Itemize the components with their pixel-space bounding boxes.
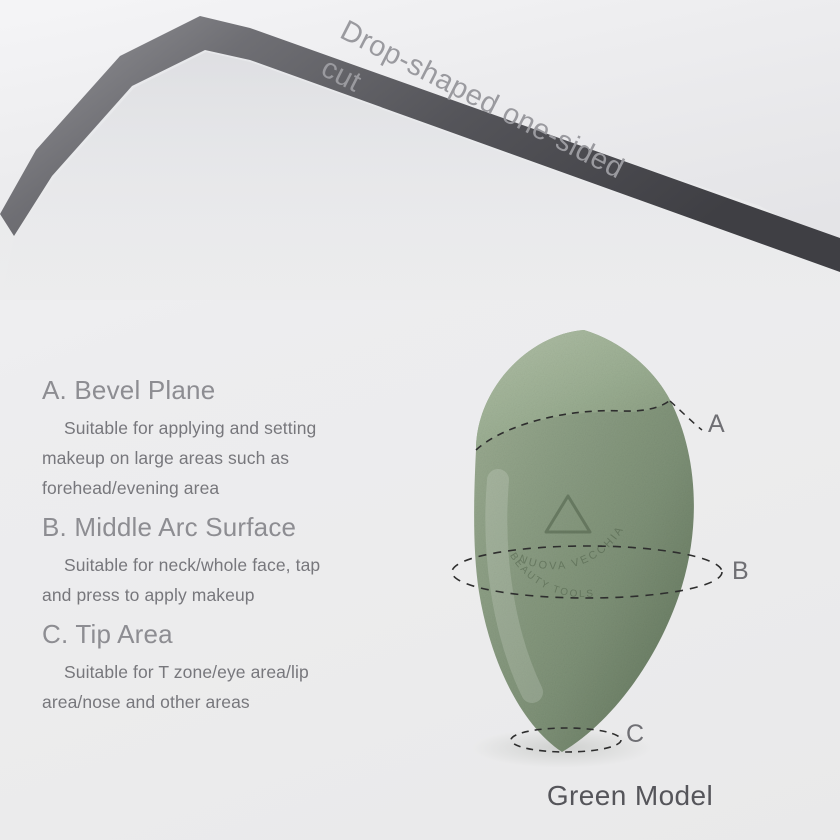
product-info-graphic: Drop-shaped one-sided cut A. Bevel Plane… [0, 0, 840, 840]
model-name: Green Model [480, 780, 780, 812]
label-a: A [708, 410, 725, 439]
label-b: B [732, 557, 749, 586]
sponge-diagram: NUOVA VECCHIA BEAUTY TOOLS A B C Green M… [380, 300, 800, 840]
label-c: C [626, 720, 644, 749]
banner-region: Drop-shaped one-sided cut [0, 0, 840, 300]
